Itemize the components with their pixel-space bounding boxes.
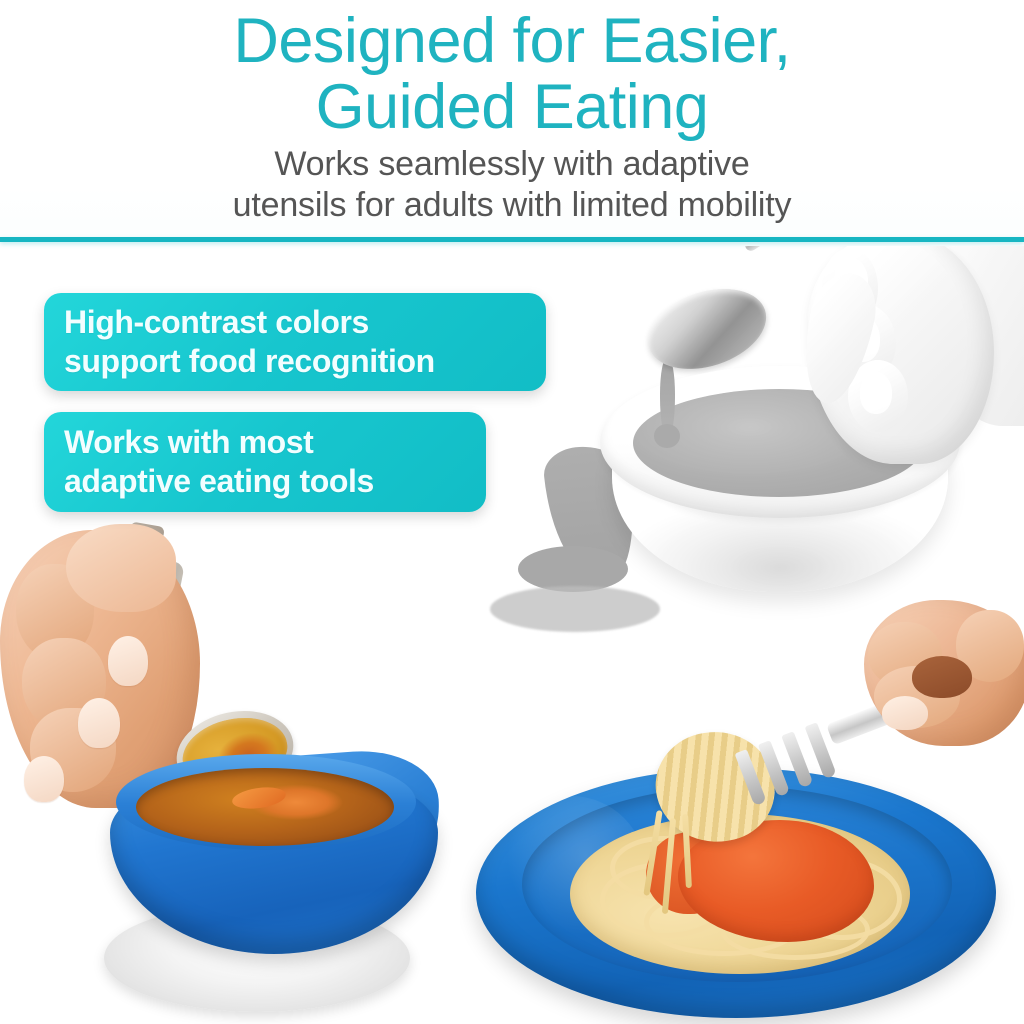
badge-adaptive-tools-label: Works with most adaptive eating tools: [64, 423, 374, 501]
header-divider: [0, 237, 1024, 242]
infographic-canvas: Designed for Easier, Guided Eating Works…: [0, 0, 1024, 1024]
bowl-shadow: [490, 586, 660, 632]
page-title: Designed for Easier, Guided Eating: [0, 8, 1024, 140]
photo-blue-plate-spaghetti: [460, 596, 1024, 1024]
photo-blue-scoop-bowl: [0, 516, 460, 1024]
fingernail-3: [860, 372, 892, 414]
fingernail-2: [108, 636, 148, 686]
spoon-drip-blob: [654, 424, 680, 448]
finger-shadow-gap: [912, 656, 972, 698]
fingernail-3: [78, 698, 120, 748]
knuckle-highlight: [66, 524, 176, 612]
badge-high-contrast-label: High-contrast colors support food recogn…: [64, 303, 435, 381]
badge-adaptive-tools[interactable]: Works with most adaptive eating tools: [44, 412, 486, 512]
fingernail-4: [24, 756, 64, 802]
badge-high-contrast[interactable]: High-contrast colors support food recogn…: [44, 293, 546, 391]
page-subtitle: Works seamlessly with adaptive utensils …: [0, 144, 1024, 226]
header-section: Designed for Easier, Guided Eating Works…: [0, 0, 1024, 240]
fingernail-thumb: [882, 696, 928, 730]
